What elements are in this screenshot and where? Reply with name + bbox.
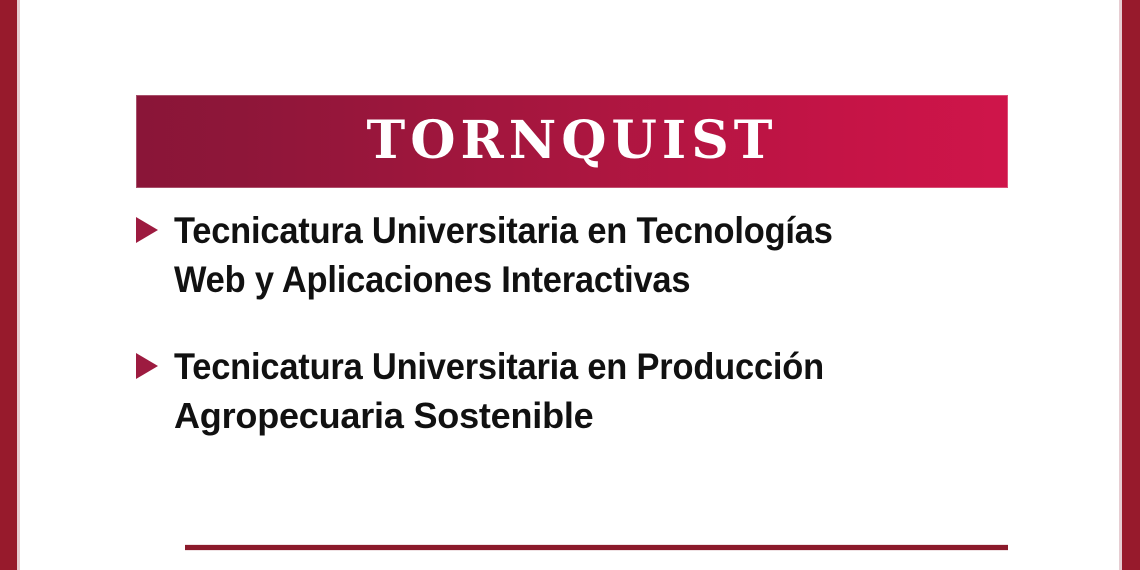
slide-canvas: TORNQUIST Tecnicatura Universitaria en T… [0,0,1140,570]
program-title-agro-line2: Agropecuaria Sostenible [174,391,1020,440]
program-list: Tecnicatura Universitaria en Tecnologías… [0,206,1140,440]
program-title-agro-line1: Tecnicatura Universitaria en Producción [174,342,961,391]
title-banner: TORNQUIST [136,95,1008,188]
bullet-row: Tecnicatura Universitaria en Tecnologías… [136,206,1020,304]
bullet-row-continuation: Agropecuaria Sostenible [136,391,1020,440]
program-title-web: Tecnicatura Universitaria en Tecnologías… [174,206,961,304]
section-divider [185,544,1008,551]
triangle-right-icon [136,353,158,379]
bullet-row: Tecnicatura Universitaria en Producción [136,342,1020,391]
list-item[interactable]: Tecnicatura Universitaria en Tecnologías… [0,206,1140,304]
divider-spacer [0,304,1140,342]
page-title: TORNQUIST [367,115,778,167]
list-item[interactable]: Tecnicatura Universitaria en Producción … [0,342,1140,440]
triangle-right-icon [136,217,158,243]
